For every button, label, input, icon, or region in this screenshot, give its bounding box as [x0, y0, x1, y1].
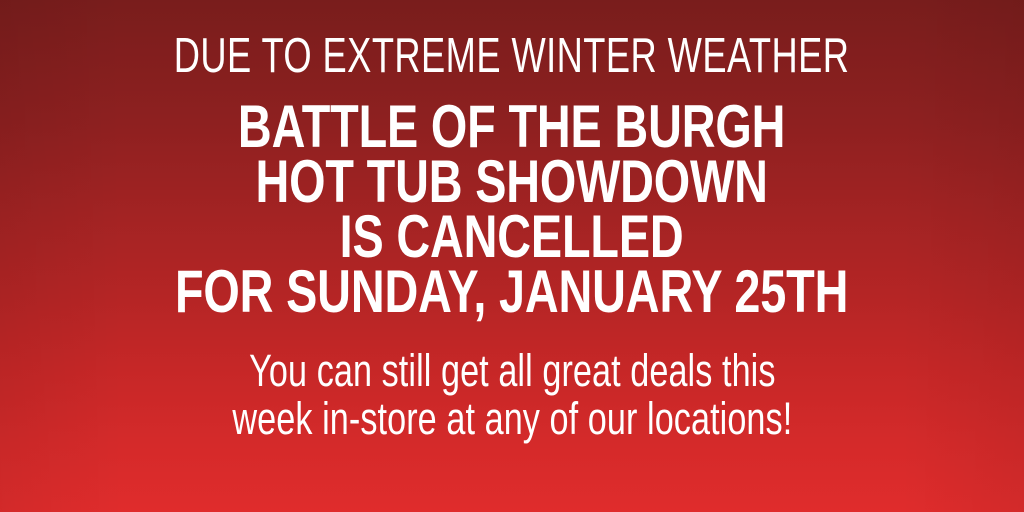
headline-block: BATTLE OF THE BURGH HOT TUB SHOWDOWN IS …	[80, 99, 943, 319]
headline-line-4: FOR SUNDAY, JANUARY 25TH	[175, 264, 848, 319]
submessage-block: You can still get all great deals this w…	[144, 347, 881, 443]
submessage-line-2: week in-store at any of our locations!	[232, 395, 792, 443]
headline-line-1: BATTLE OF THE BURGH	[175, 99, 848, 154]
headline-line-2: HOT TUB SHOWDOWN	[175, 154, 848, 209]
submessage-line-1: You can still get all great deals this	[232, 347, 792, 395]
weather-reason-line: DUE TO EXTREME WINTER WEATHER	[174, 31, 850, 81]
cancellation-poster: DUE TO EXTREME WINTER WEATHER BATTLE OF …	[0, 0, 1024, 512]
headline-line-3: IS CANCELLED	[175, 209, 848, 264]
